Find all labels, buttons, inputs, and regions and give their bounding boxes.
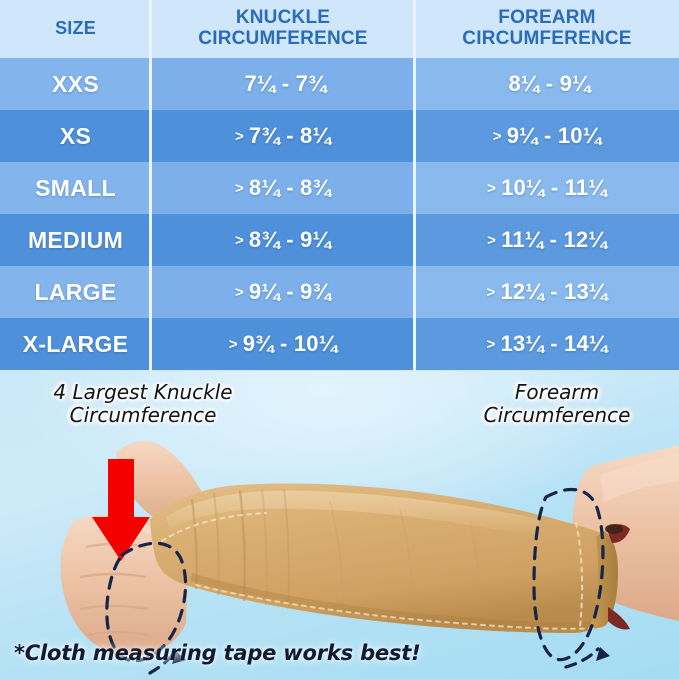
header-label-knuckle-line2: CIRCUMFERENCE bbox=[198, 28, 367, 49]
knuckle-range: 9¼ - 9¾ bbox=[249, 279, 331, 304]
knuckle-range: 8¼ - 8¾ bbox=[249, 175, 331, 200]
cell-knuckle: >7¾ - 8¼ bbox=[151, 110, 415, 162]
header-label-forearm-line1: FOREARM bbox=[498, 7, 595, 28]
forearm-value: >10¼ - 11¼ bbox=[487, 175, 607, 201]
header-label-knuckle-line1: KNUCKLE bbox=[236, 7, 330, 28]
forearm-value: >11¼ - 12¼ bbox=[487, 227, 607, 253]
knuckle-range: 9¾ - 10¼ bbox=[243, 331, 338, 356]
forearm-value: >12¼ - 13¼ bbox=[487, 279, 608, 305]
column-separator-1 bbox=[149, 0, 152, 371]
forearm-value: >13¼ - 14¼ bbox=[487, 331, 608, 357]
forearm-range: 11¼ - 12¼ bbox=[501, 227, 607, 252]
product-photo-panel: 4 Largest Knuckle Circumference Forearm … bbox=[0, 371, 679, 679]
size-table: SIZE KNUCKLE CIRCUMFERENCE FOREARM CIRCU… bbox=[0, 0, 679, 371]
cell-size: SMALL bbox=[0, 162, 151, 214]
forearm-value: >9¼ - 10¼ bbox=[493, 123, 602, 149]
knuckle-range: 7¼ - 7¾ bbox=[244, 71, 326, 96]
knuckle-value: >8¾ - 9¼ bbox=[235, 227, 331, 253]
annotation-forearm-circumference: Forearm Circumference bbox=[452, 381, 662, 427]
header-label-size: SIZE bbox=[55, 19, 96, 38]
forearm-range: 9¼ - 10¼ bbox=[507, 123, 602, 148]
knuckle-value: 7¼ - 7¾ bbox=[239, 71, 326, 97]
gt-symbol: > bbox=[487, 180, 496, 197]
cell-knuckle: >8¾ - 9¼ bbox=[151, 214, 415, 266]
annotation-knuckle-circumference: 4 Largest Knuckle Circumference bbox=[8, 381, 278, 427]
size-label: SMALL bbox=[35, 175, 116, 202]
size-label: XXS bbox=[52, 71, 99, 98]
cell-size: X-LARGE bbox=[0, 318, 151, 370]
gt-symbol: > bbox=[229, 336, 238, 353]
table-header-row: SIZE KNUCKLE CIRCUMFERENCE FOREARM CIRCU… bbox=[0, 0, 679, 58]
cell-knuckle: 7¼ - 7¾ bbox=[151, 58, 415, 110]
forearm-range: 12¼ - 13¼ bbox=[500, 279, 607, 304]
gt-symbol: > bbox=[487, 232, 496, 249]
size-chart-page: SIZE KNUCKLE CIRCUMFERENCE FOREARM CIRCU… bbox=[0, 0, 679, 679]
cell-knuckle: >8¼ - 8¾ bbox=[151, 162, 415, 214]
header-label-forearm: FOREARM CIRCUMFERENCE bbox=[462, 8, 631, 49]
gt-symbol: > bbox=[493, 128, 502, 145]
cell-size: XXS bbox=[0, 58, 151, 110]
size-label: XS bbox=[60, 123, 91, 150]
gt-symbol: > bbox=[235, 232, 244, 249]
cell-forearm: >13¼ - 14¼ bbox=[415, 318, 679, 370]
header-cell-knuckle: KNUCKLE CIRCUMFERENCE bbox=[151, 0, 415, 58]
forearm-range: 8¼ - 9¼ bbox=[508, 71, 590, 96]
column-separator-2 bbox=[413, 0, 416, 371]
header-cell-forearm: FOREARM CIRCUMFERENCE bbox=[415, 0, 679, 58]
table-row: MEDIUM >8¾ - 9¼ >11¼ - 12¼ bbox=[0, 214, 679, 266]
forearm-range: 13¼ - 14¼ bbox=[500, 331, 607, 356]
gt-symbol: > bbox=[235, 180, 244, 197]
footnote-cloth-tape: *Cloth measuring tape works best! bbox=[14, 641, 420, 665]
knuckle-range: 8¾ - 9¼ bbox=[249, 227, 331, 252]
header-label-knuckle: KNUCKLE CIRCUMFERENCE bbox=[198, 8, 367, 49]
cell-size: MEDIUM bbox=[0, 214, 151, 266]
gt-symbol: > bbox=[235, 128, 244, 145]
cell-forearm: >12¼ - 13¼ bbox=[415, 266, 679, 318]
table-row: X-LARGE >9¾ - 10¼ >13¼ - 14¼ bbox=[0, 318, 679, 370]
cell-size: LARGE bbox=[0, 266, 151, 318]
header-label-forearm-line2: CIRCUMFERENCE bbox=[462, 28, 631, 49]
size-label: LARGE bbox=[35, 279, 117, 306]
knuckle-value: >7¾ - 8¼ bbox=[235, 123, 331, 149]
gt-symbol: > bbox=[487, 284, 496, 301]
cell-forearm: 8¼ - 9¼ bbox=[415, 58, 679, 110]
size-label: X-LARGE bbox=[23, 331, 129, 358]
cell-forearm: >9¼ - 10¼ bbox=[415, 110, 679, 162]
cell-forearm: >10¼ - 11¼ bbox=[415, 162, 679, 214]
cell-size: XS bbox=[0, 110, 151, 162]
cell-forearm: >11¼ - 12¼ bbox=[415, 214, 679, 266]
knuckle-value: >8¼ - 8¾ bbox=[235, 175, 331, 201]
knuckle-value: >9¾ - 10¼ bbox=[229, 331, 338, 357]
cell-knuckle: >9¼ - 9¾ bbox=[151, 266, 415, 318]
forearm-value: 8¼ - 9¼ bbox=[503, 71, 590, 97]
knuckle-range: 7¾ - 8¼ bbox=[249, 123, 331, 148]
table-row: SMALL >8¼ - 8¾ >10¼ - 11¼ bbox=[0, 162, 679, 214]
gt-symbol: > bbox=[235, 284, 244, 301]
knuckle-value: >9¼ - 9¾ bbox=[235, 279, 331, 305]
table-row: XS >7¾ - 8¼ >9¼ - 10¼ bbox=[0, 110, 679, 162]
gt-symbol: > bbox=[487, 336, 496, 353]
header-cell-size: SIZE bbox=[0, 0, 151, 58]
table-row: XXS 7¼ - 7¾ 8¼ - 9¼ bbox=[0, 58, 679, 110]
leather-wrist-brace bbox=[150, 483, 630, 633]
forearm-range: 10¼ - 11¼ bbox=[501, 175, 607, 200]
table-row: LARGE >9¼ - 9¾ >12¼ - 13¼ bbox=[0, 266, 679, 318]
cell-knuckle: >9¾ - 10¼ bbox=[151, 318, 415, 370]
size-label: MEDIUM bbox=[28, 227, 123, 254]
